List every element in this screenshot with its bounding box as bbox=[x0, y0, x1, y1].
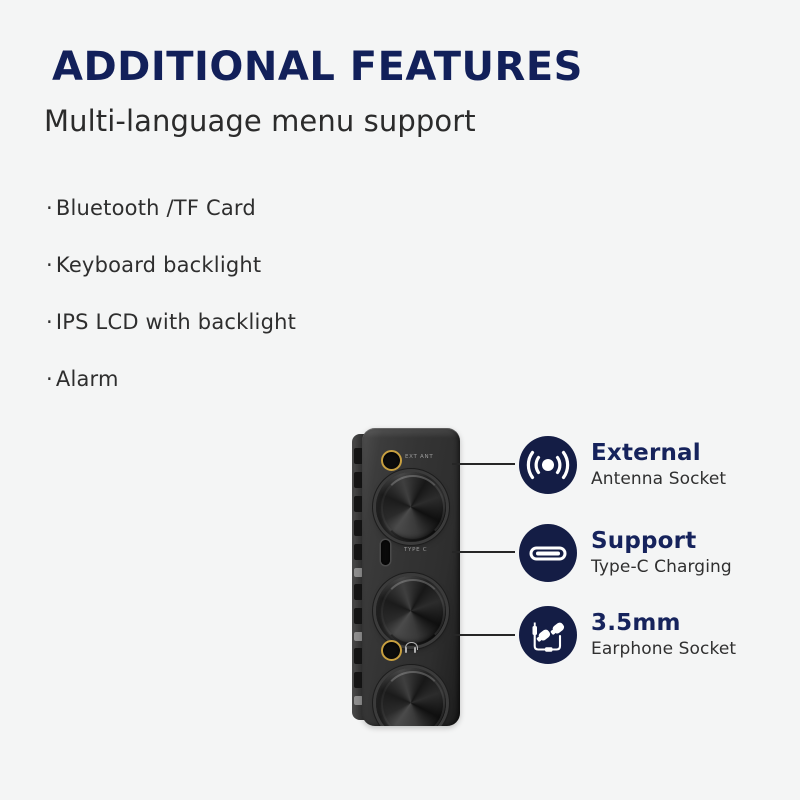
device-product-image: EXT ANT TYPE C bbox=[352, 428, 460, 726]
selector-knob[interactable] bbox=[376, 668, 446, 726]
callout-type-c: Support Type-C Charging bbox=[519, 524, 732, 582]
bullet-icon: · bbox=[46, 312, 53, 333]
external-antenna-socket-icon bbox=[381, 450, 402, 471]
usb-c-port-icon bbox=[381, 540, 390, 565]
leader-line-earphone bbox=[452, 634, 515, 636]
usb-type-c-icon bbox=[519, 524, 577, 582]
headphone-glyph-icon bbox=[404, 642, 417, 654]
list-item-label: Bluetooth /TF Card bbox=[56, 196, 256, 220]
callout-text-block: External Antenna Socket bbox=[591, 441, 726, 488]
earphone-icon bbox=[519, 606, 577, 664]
type-c-label: TYPE C bbox=[404, 547, 427, 553]
leader-line-antenna bbox=[452, 463, 515, 465]
list-item: ·IPS LCD with backlight bbox=[46, 312, 466, 333]
ext-ant-label: EXT ANT bbox=[405, 454, 433, 460]
callout-text-block: 3.5mm Earphone Socket bbox=[591, 611, 736, 658]
callout-title: External bbox=[591, 441, 726, 466]
callout-subtitle: Earphone Socket bbox=[591, 640, 736, 658]
leader-line-typec bbox=[452, 551, 515, 553]
list-item: ·Alarm bbox=[46, 369, 466, 390]
list-item-label: Keyboard backlight bbox=[56, 253, 261, 277]
list-item: ·Bluetooth /TF Card bbox=[46, 198, 466, 219]
tuning-knob[interactable] bbox=[376, 472, 446, 542]
bullet-icon: · bbox=[46, 255, 53, 276]
bullet-icon: · bbox=[46, 369, 53, 390]
list-item-label: IPS LCD with backlight bbox=[56, 310, 296, 334]
callout-external-antenna: External Antenna Socket bbox=[519, 436, 726, 494]
callout-earphone: 3.5mm Earphone Socket bbox=[519, 606, 736, 664]
callout-text-block: Support Type-C Charging bbox=[591, 529, 732, 576]
list-item-label: Alarm bbox=[56, 367, 119, 391]
page-title: ADDITIONAL FEATURES bbox=[52, 46, 583, 88]
feature-list: ·Bluetooth /TF Card ·Keyboard backlight … bbox=[46, 198, 466, 426]
callout-title: Support bbox=[591, 529, 732, 554]
callout-subtitle: Type-C Charging bbox=[591, 558, 732, 576]
earphone-socket-icon bbox=[381, 640, 402, 661]
page-subtitle: Multi-language menu support bbox=[44, 104, 476, 138]
device-front-face: EXT ANT TYPE C bbox=[362, 428, 460, 726]
antenna-signal-icon bbox=[519, 436, 577, 494]
volume-knob[interactable] bbox=[376, 576, 446, 646]
callout-subtitle: Antenna Socket bbox=[591, 470, 726, 488]
list-item: ·Keyboard backlight bbox=[46, 255, 466, 276]
bullet-icon: · bbox=[46, 198, 53, 219]
callout-title: 3.5mm bbox=[591, 611, 736, 636]
